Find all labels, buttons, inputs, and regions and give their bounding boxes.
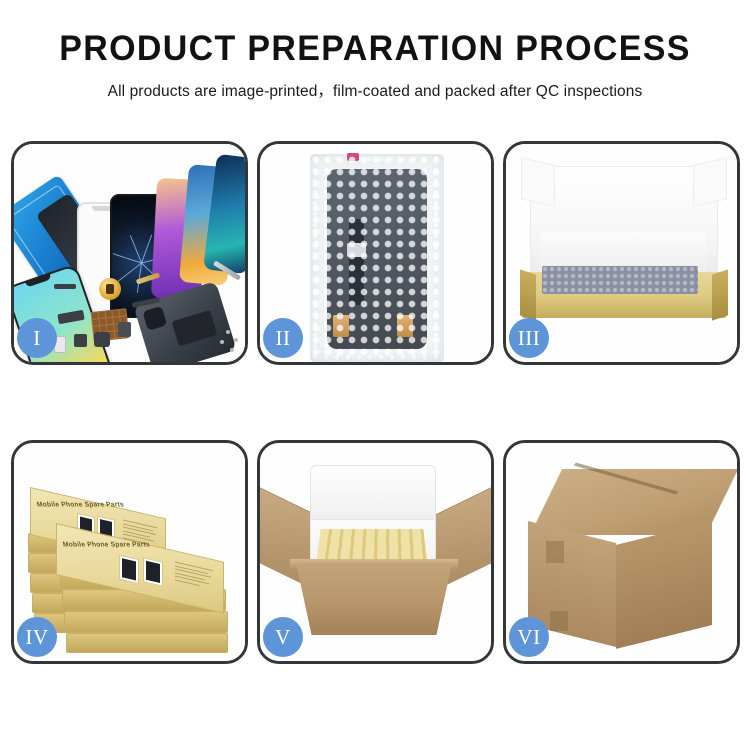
lcd-flex-cable — [349, 219, 364, 305]
spare-part — [118, 322, 131, 337]
carton-tape-patch — [546, 541, 564, 563]
box-label-text: Mobile Phone Spare Parts — [62, 541, 151, 549]
process-step-1[interactable]: I — [11, 141, 248, 365]
page-title: PRODUCT PREPARATION PROCESS — [11, 31, 739, 68]
gold-camera-module — [99, 278, 121, 300]
process-step-3[interactable]: III — [503, 141, 740, 365]
process-step-grid: I II III — [11, 141, 739, 682]
process-step-5[interactable]: V — [257, 440, 494, 664]
box-label-text: Mobile Phone Spare Parts — [36, 501, 125, 509]
step-badge-6: VI — [509, 617, 549, 657]
connector-tab — [397, 315, 413, 337]
bubble-wrap-bag — [310, 154, 444, 362]
carton-front-wall — [296, 563, 452, 635]
step-badge-2: II — [263, 318, 303, 358]
foam-box-lid — [310, 465, 436, 527]
page-subtitle: All products are image-printed，film-coat… — [0, 79, 750, 101]
lcd-driver-chip — [347, 243, 366, 257]
step-badge-5: V — [263, 617, 303, 657]
process-step-4[interactable]: Mobile Phone Spare Parts Mobile Phone Sp… — [11, 440, 248, 664]
spare-part — [54, 284, 76, 289]
carton-right-face — [616, 521, 712, 649]
page-header: PRODUCT PREPARATION PROCESS All products… — [0, 0, 750, 101]
gray-bubble-padding — [542, 266, 698, 294]
process-step-6[interactable]: VI — [503, 440, 740, 664]
step-badge-4: IV — [17, 617, 57, 657]
spare-part — [74, 334, 87, 347]
connector-tab — [333, 315, 349, 337]
process-step-2[interactable]: II — [257, 141, 494, 365]
carton-tape-patch — [550, 611, 568, 631]
step-badge-1: I — [17, 318, 57, 358]
spare-part — [94, 332, 110, 347]
step-badge-3: III — [509, 318, 549, 358]
bag-seal-sticker — [347, 153, 359, 161]
